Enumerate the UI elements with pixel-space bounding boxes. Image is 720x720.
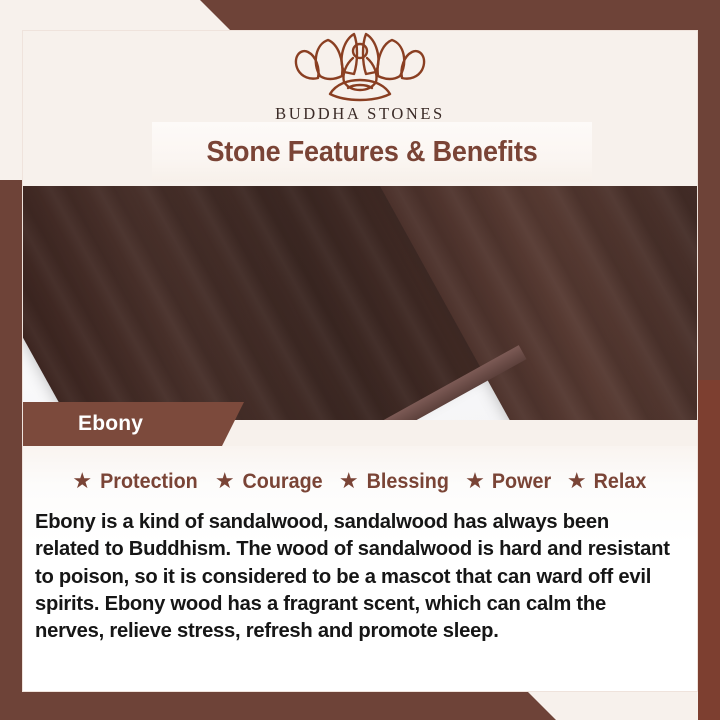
feature-label: Protection <box>100 470 198 494</box>
product-photo <box>0 170 720 420</box>
features-list: ★ Protection ★ Courage ★ Blessing ★ Powe… <box>22 446 698 494</box>
star-icon: ★ <box>72 470 92 492</box>
feature-item: ★ Blessing <box>339 470 451 494</box>
description-text: Ebony is a kind of sandalwood, sandalwoo… <box>35 508 675 644</box>
product-label-banner: Ebony <box>22 402 244 446</box>
feature-item: ★ Power <box>465 470 553 494</box>
feature-item: ★ Protection <box>72 470 201 494</box>
feature-item: ★ Relax <box>567 470 648 494</box>
feature-label: Relax <box>593 470 646 494</box>
feature-label: Power <box>492 470 551 494</box>
product-label: Ebony <box>78 412 143 436</box>
feature-label: Blessing <box>366 470 448 494</box>
feature-label: Courage <box>242 470 322 494</box>
poster-root: BUDDHA STONES Stone Features & Benefits … <box>0 0 720 720</box>
page-title: Stone Features & Benefits <box>206 136 537 169</box>
frame-left-band <box>0 180 22 720</box>
frame-right-band-lower <box>698 380 720 720</box>
feature-item: ★ Courage <box>215 470 325 494</box>
star-icon: ★ <box>567 470 587 492</box>
frame-bottom-band <box>0 692 720 720</box>
star-icon: ★ <box>215 470 235 492</box>
star-icon: ★ <box>339 470 359 492</box>
lotus-meditation-figure-icon <box>274 22 446 102</box>
brand-name: BUDDHA STONES <box>0 104 720 124</box>
content-panel: ★ Protection ★ Courage ★ Blessing ★ Powe… <box>22 446 698 692</box>
star-icon: ★ <box>465 470 485 492</box>
brand-logo: BUDDHA STONES <box>0 22 720 124</box>
title-banner: Stone Features & Benefits <box>152 122 592 182</box>
